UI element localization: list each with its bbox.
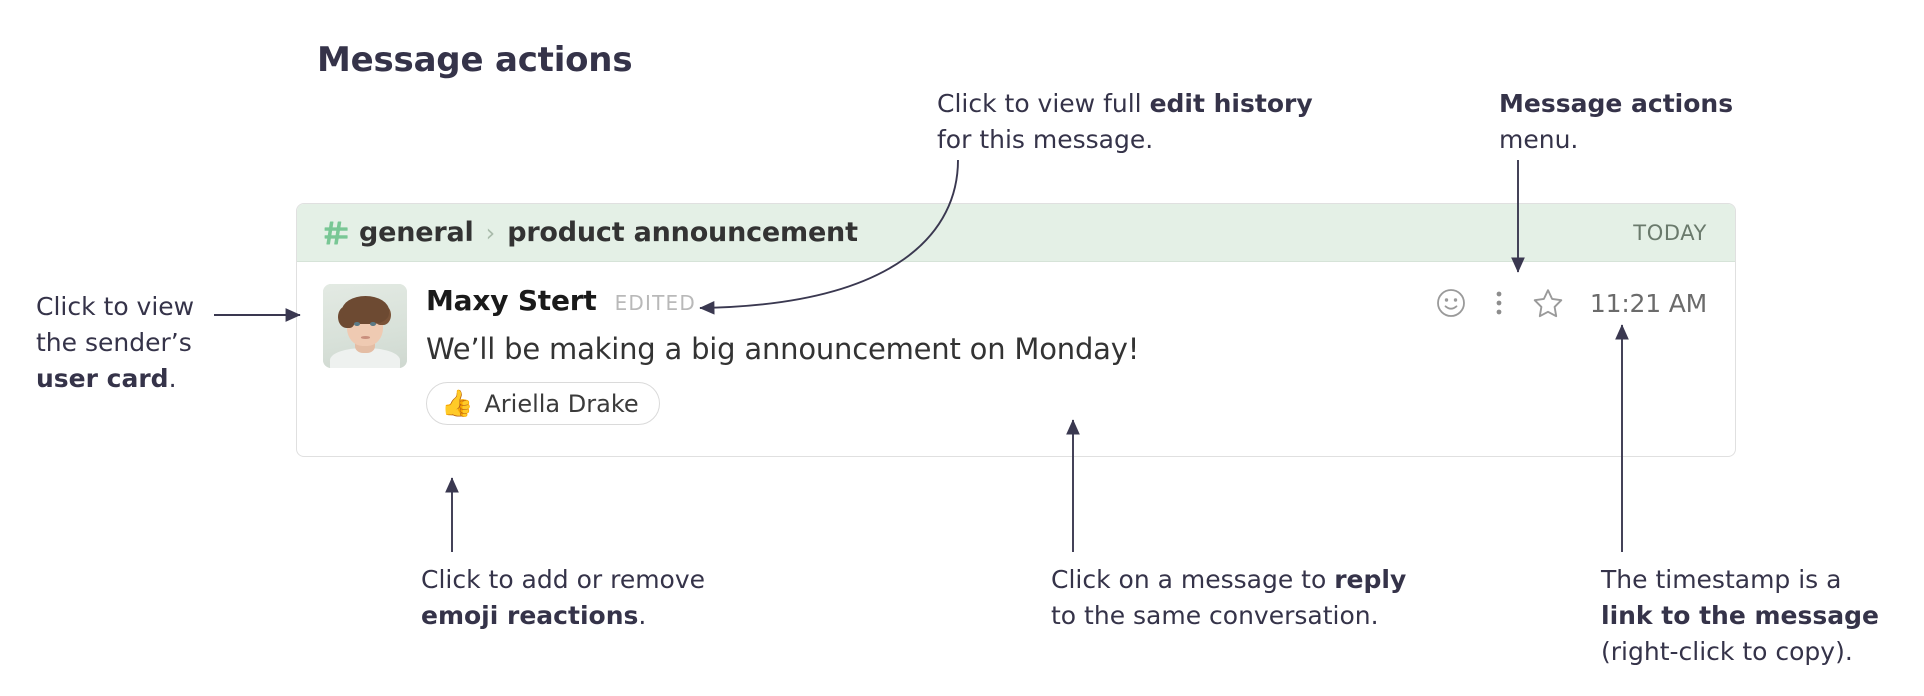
annotation-reply: Click on a message to reply to the same … (1051, 562, 1406, 634)
annotation-edit-history-line2: for this message. (937, 122, 1313, 158)
annotation-text: Click to view full (937, 89, 1150, 118)
star-icon[interactable] (1532, 287, 1564, 319)
annotation-emphasis: link to the message (1601, 601, 1879, 630)
annotation-user-card-line3: user card. (36, 361, 194, 397)
annotation-edit-history-line1: Click to view full edit history (937, 86, 1313, 122)
annotation-timestamp-line2: link to the message (1601, 598, 1879, 634)
vertical-dots-icon[interactable] (1494, 288, 1504, 318)
message-text[interactable]: We’ll be making a big announcement on Mo… (426, 332, 1707, 366)
annotation-timestamp: The timestamp is a link to the message (… (1601, 562, 1879, 670)
annotation-emphasis: emoji reactions (421, 601, 638, 630)
annotation-actions-menu-line1: Message actions (1499, 86, 1733, 122)
avatar-eye-left (354, 322, 360, 326)
annotation-emphasis: user card (36, 364, 169, 393)
annotation-user-card: Click to view the sender’s user card. (36, 289, 194, 397)
annotation-edit-history: Click to view full edit history for this… (937, 86, 1313, 158)
card-header: general › product announcement TODAY (297, 204, 1735, 262)
annotation-text: . (169, 364, 177, 393)
annotation-text: Click on a message to (1051, 565, 1334, 594)
topic-name[interactable]: product announcement (507, 217, 858, 248)
stream-name[interactable]: general (359, 217, 474, 248)
avatar-eye-right (370, 322, 376, 326)
smiley-icon[interactable] (1436, 288, 1466, 318)
annotation-reply-line1: Click on a message to reply (1051, 562, 1406, 598)
annotation-actions-menu: Message actions menu. (1499, 86, 1733, 158)
edited-badge[interactable]: EDITED (615, 291, 696, 315)
annotation-timestamp-line1: The timestamp is a (1601, 562, 1879, 598)
sender-name[interactable]: Maxy Stert (426, 284, 597, 317)
annotation-user-card-line2: the sender’s (36, 325, 194, 361)
annotation-emphasis: Message actions (1499, 89, 1733, 118)
hash-icon (323, 220, 349, 246)
page-title: Message actions (317, 40, 632, 80)
annotation-emoji-reactions: Click to add or remove emoji reactions. (421, 562, 705, 634)
annotation-actions-menu-line2: menu. (1499, 122, 1733, 158)
annotation-emoji-line2: emoji reactions. (421, 598, 705, 634)
breadcrumb-separator-icon: › (486, 221, 496, 245)
annotation-emoji-line1: Click to add or remove (421, 562, 705, 598)
reaction-row: 👍 Ariella Drake (426, 382, 1707, 425)
message-body: Maxy Stert EDITED We’ll be making a big … (297, 262, 1735, 425)
thumbs-up-icon: 👍 (441, 391, 473, 417)
annotation-user-card-line1: Click to view (36, 289, 194, 325)
message-card: general › product announcement TODAY Max… (296, 203, 1736, 457)
avatar[interactable] (323, 284, 407, 368)
message-timestamp[interactable]: 11:21 AM (1590, 289, 1707, 318)
annotation-reply-line2: to the same conversation. (1051, 598, 1406, 634)
annotation-timestamp-line3: (right-click to copy). (1601, 634, 1879, 670)
date-label-today: TODAY (1633, 221, 1707, 245)
message-actions: 11:21 AM (1436, 284, 1707, 322)
reaction-chip[interactable]: 👍 Ariella Drake (426, 382, 660, 425)
reaction-user-name: Ariella Drake (484, 390, 638, 418)
annotation-text: . (638, 601, 646, 630)
annotation-emphasis: reply (1334, 565, 1406, 594)
annotation-emphasis: edit history (1150, 89, 1313, 118)
avatar-mouth (361, 336, 370, 339)
avatar-hair (342, 296, 388, 325)
